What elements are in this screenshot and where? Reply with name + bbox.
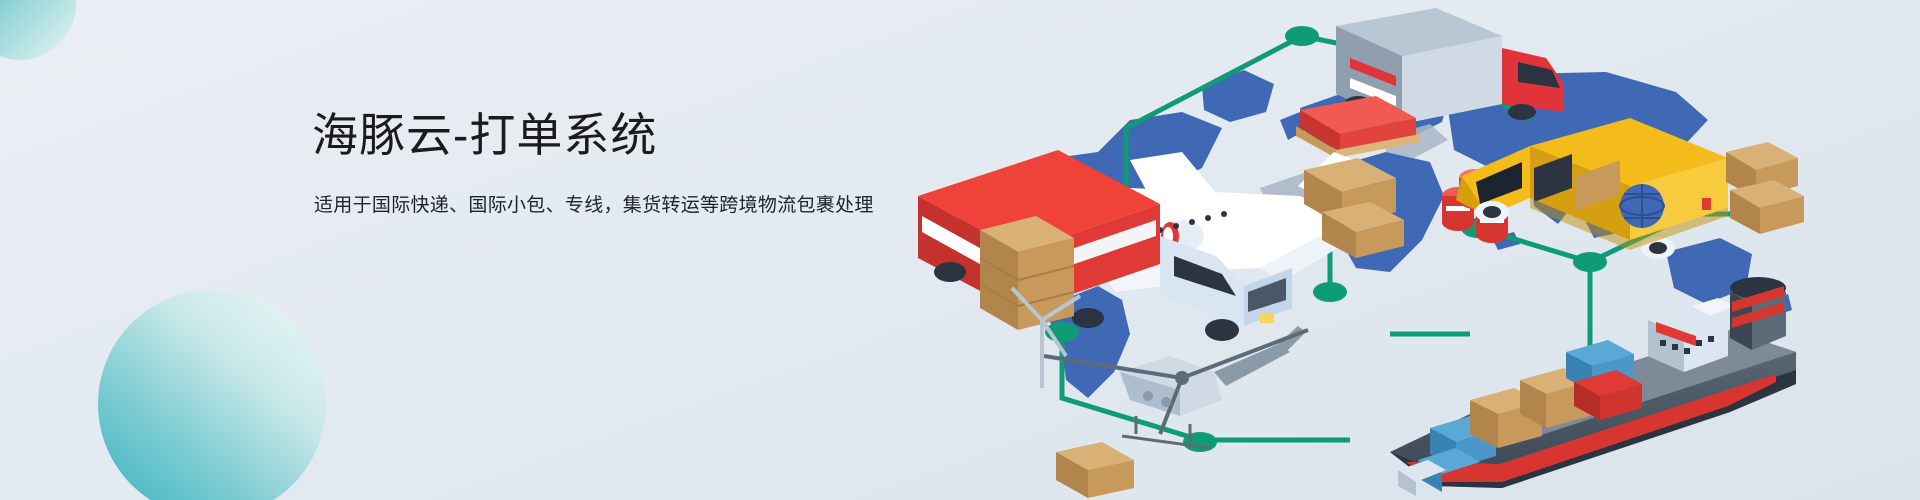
- logistics-illustration: [830, 0, 1920, 500]
- cardboard-boxes-van: [1726, 142, 1804, 234]
- decorative-circle-bottom-left: [98, 290, 326, 500]
- hero-banner: 海豚云-打单系统 适用于国际快递、国际小包、专线，集货转运等跨境物流包裹处理: [0, 0, 1920, 500]
- decorative-circle-top-left: [0, 0, 76, 60]
- cardboard-boxes-left: [980, 216, 1074, 330]
- cargo-ship: [1390, 277, 1796, 496]
- hero-text-block: 海豚云-打单系统 适用于国际快递、国际小包、专线，集货转运等跨境物流包裹处理: [312, 104, 874, 220]
- cardboard-boxes-bottom: [1056, 442, 1134, 498]
- page-title: 海豚云-打单系统: [312, 104, 874, 166]
- page-subtitle: 适用于国际快递、国际小包、专线，集货转运等跨境物流包裹处理: [314, 192, 874, 220]
